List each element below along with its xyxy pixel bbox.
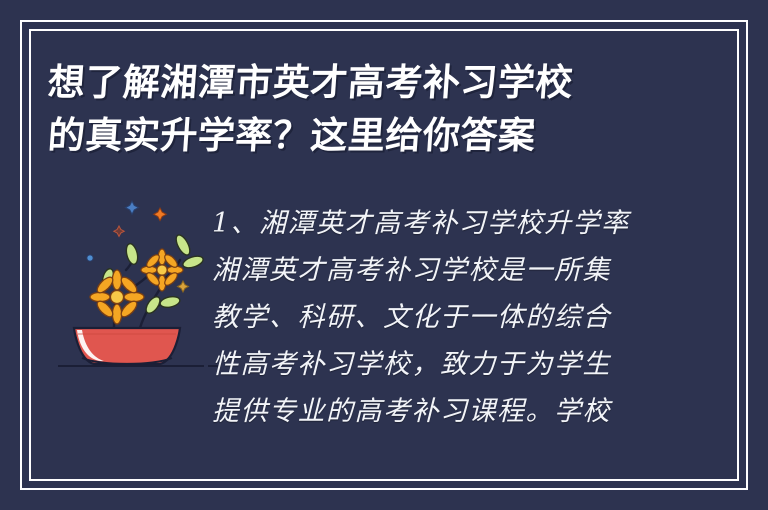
body-line-5: 提供专业的高考补习课程。学校: [212, 388, 632, 435]
headline-line-2: 的真实升学率？这里给你答案: [46, 109, 690, 162]
body-line-1: 1、湘潭英才高考补习学校升学率: [212, 200, 632, 247]
flower-pot: [74, 328, 180, 364]
sparkle-gold-icon: [178, 281, 189, 292]
body-line-3: 教学、科研、文化于一体的综合: [212, 294, 632, 341]
body-text-block: 1、湘潭英才高考补习学校升学率 湘潭英才高考补习学校是一所集 教学、科研、文化于…: [212, 200, 632, 435]
body-line-4: 性高考补习学校，致力于为学生: [212, 341, 632, 388]
sparkle-red-icon: [114, 226, 124, 236]
headline-line-1: 想了解湘潭市英才高考补习学校: [46, 56, 690, 109]
poster-canvas: 想了解湘潭市英才高考补习学校 的真实升学率？这里给你答案: [0, 0, 768, 510]
sparkle-orange-icon: [154, 208, 167, 221]
potted-flowers-illustration: [52, 182, 222, 382]
flower-large-icon: [90, 270, 144, 324]
body-line-2: 湘潭英才高考补习学校是一所集: [212, 247, 632, 294]
sparkle-blue-icon: [125, 201, 138, 214]
flower-small-icon: [141, 249, 183, 291]
headline-block: 想了解湘潭市英才高考补习学校 的真实升学率？这里给你答案: [48, 56, 688, 162]
sparkle-cyan-icon: [87, 255, 93, 261]
